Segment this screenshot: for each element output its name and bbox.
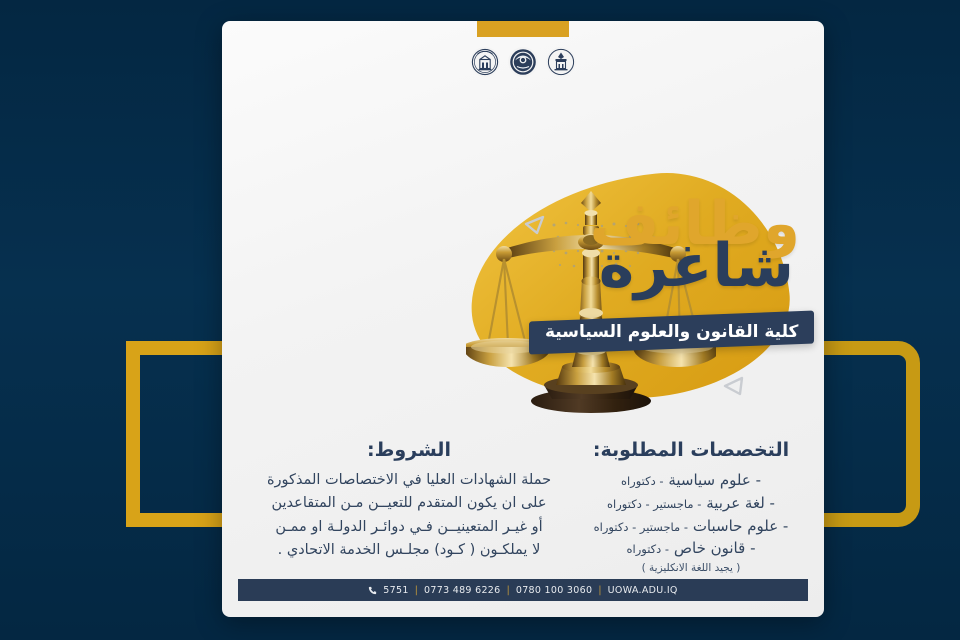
specialization-degrees: - دكتوراه bbox=[621, 474, 664, 488]
triangle-outline-icon bbox=[721, 374, 747, 398]
poster-card: وظائف شاغرة كلية القانون والعلوم السياسي… bbox=[222, 21, 824, 617]
headline-line-navy: شاغرة bbox=[504, 238, 804, 295]
subtitle-banner-text: كلية القانون والعلوم السياسية bbox=[545, 322, 798, 342]
contact-separator: | bbox=[598, 585, 601, 596]
specialization-field: - قانون خاص bbox=[674, 539, 756, 557]
specialization-degrees: - ماجستير - دكتوراه bbox=[607, 497, 701, 511]
poster-stage: وظائف شاغرة كلية القانون والعلوم السياسي… bbox=[0, 0, 960, 640]
conditions-column: الشروط: حملة الشهادات العليا في الاختصاص… bbox=[250, 439, 568, 574]
conditions-title: الشروط: bbox=[250, 439, 568, 461]
contact-separator: | bbox=[506, 585, 509, 596]
logo-row bbox=[222, 47, 824, 77]
condition-line: على ان يكون المتقدم للتعيــن مـن المتقاع… bbox=[250, 492, 568, 515]
specializations-column: التخصصات المطلوبة: - علوم سياسية - دكتور… bbox=[586, 439, 796, 574]
specialization-degrees: - دكتوراه bbox=[627, 542, 670, 556]
contact-phone-short: 5751 bbox=[383, 585, 408, 596]
ministry-emblem-logo bbox=[546, 47, 576, 77]
condition-line: لا يملكـون ( كـود) مجلـس الخدمة الاتحادي… bbox=[250, 539, 568, 562]
specializations-note: ( يجيد اللغة الانكليزية ) bbox=[586, 562, 796, 574]
contact-phone-1: 0773 489 6226 bbox=[424, 585, 500, 596]
condition-line: أو غيـر المتعينيــن فـي دوائـر الدولـة ا… bbox=[250, 516, 568, 539]
specializations-title: التخصصات المطلوبة: bbox=[586, 439, 796, 461]
specialization-item: - علوم سياسية - دكتوراه bbox=[586, 469, 796, 492]
contact-footer: 5751 | 0773 489 6226 | 0780 100 3060 | U… bbox=[238, 579, 808, 601]
university-globe-logo bbox=[508, 47, 538, 77]
specialization-field: - علوم حاسبات bbox=[693, 517, 789, 535]
specialization-field: - علوم سياسية bbox=[668, 471, 761, 489]
top-gold-tab bbox=[477, 21, 569, 37]
condition-line: حملة الشهادات العليا في الاختصاصات المذك… bbox=[250, 469, 568, 492]
headline: وظائف شاغرة bbox=[504, 197, 804, 295]
specialization-item: - علوم حاسبات - ماجستير - دكتوراه bbox=[586, 515, 796, 538]
specialization-item: - لغة عربية - ماجستير - دكتوراه bbox=[586, 492, 796, 515]
phone-icon bbox=[368, 586, 377, 595]
specialization-degrees: - ماجستير - دكتوراه bbox=[594, 520, 688, 534]
specialization-field: - لغة عربية bbox=[706, 494, 775, 512]
contact-separator: | bbox=[415, 585, 418, 596]
college-seal-logo bbox=[470, 47, 500, 77]
specialization-item: - قانون خاص - دكتوراه bbox=[586, 537, 796, 560]
contact-website: UOWA.ADU.IQ bbox=[608, 585, 678, 596]
info-columns: التخصصات المطلوبة: - علوم سياسية - دكتور… bbox=[222, 439, 824, 574]
contact-phone-2: 0780 100 3060 bbox=[516, 585, 592, 596]
